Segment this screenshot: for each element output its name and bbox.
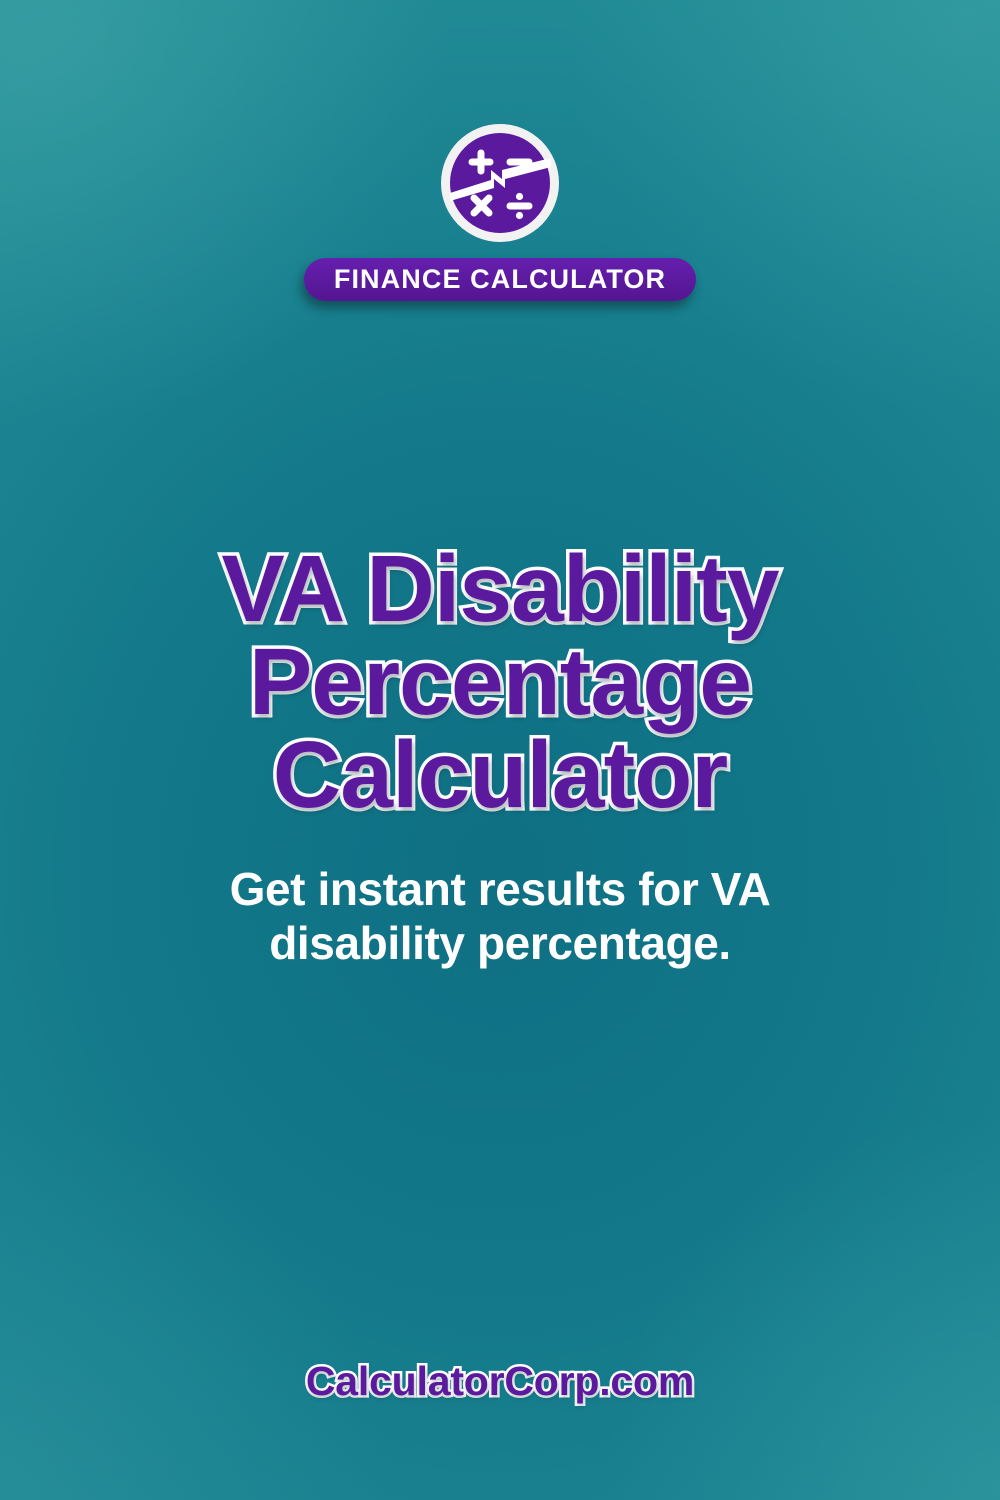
subtitle: Get instant results for VA disability pe… <box>0 862 1000 971</box>
poster-content: FINANCE CALCULATOR VA Disability Percent… <box>0 0 1000 1500</box>
logo-container <box>0 122 1000 244</box>
site-url[interactable]: CalculatorCorp.com <box>306 1358 694 1405</box>
subtitle-line-1: Get instant results for VA <box>70 862 930 916</box>
page-title-line-2: Percentage <box>0 636 1000 729</box>
page-title-line-3: Calculator <box>0 729 1000 822</box>
category-badge[interactable]: FINANCE CALCULATOR <box>304 258 696 301</box>
footer: CalculatorCorp.com <box>0 1358 1000 1405</box>
poster-canvas: FINANCE CALCULATOR VA Disability Percent… <box>0 0 1000 1500</box>
page-title-line-1: VA Disability <box>0 543 1000 636</box>
category-badge-container: FINANCE CALCULATOR <box>0 258 1000 301</box>
subtitle-line-2: disability percentage. <box>70 916 930 970</box>
category-badge-label: FINANCE CALCULATOR <box>334 266 666 293</box>
calculator-circle-logo-icon <box>439 122 561 244</box>
page-title: VA Disability Percentage Calculator <box>0 543 1000 822</box>
